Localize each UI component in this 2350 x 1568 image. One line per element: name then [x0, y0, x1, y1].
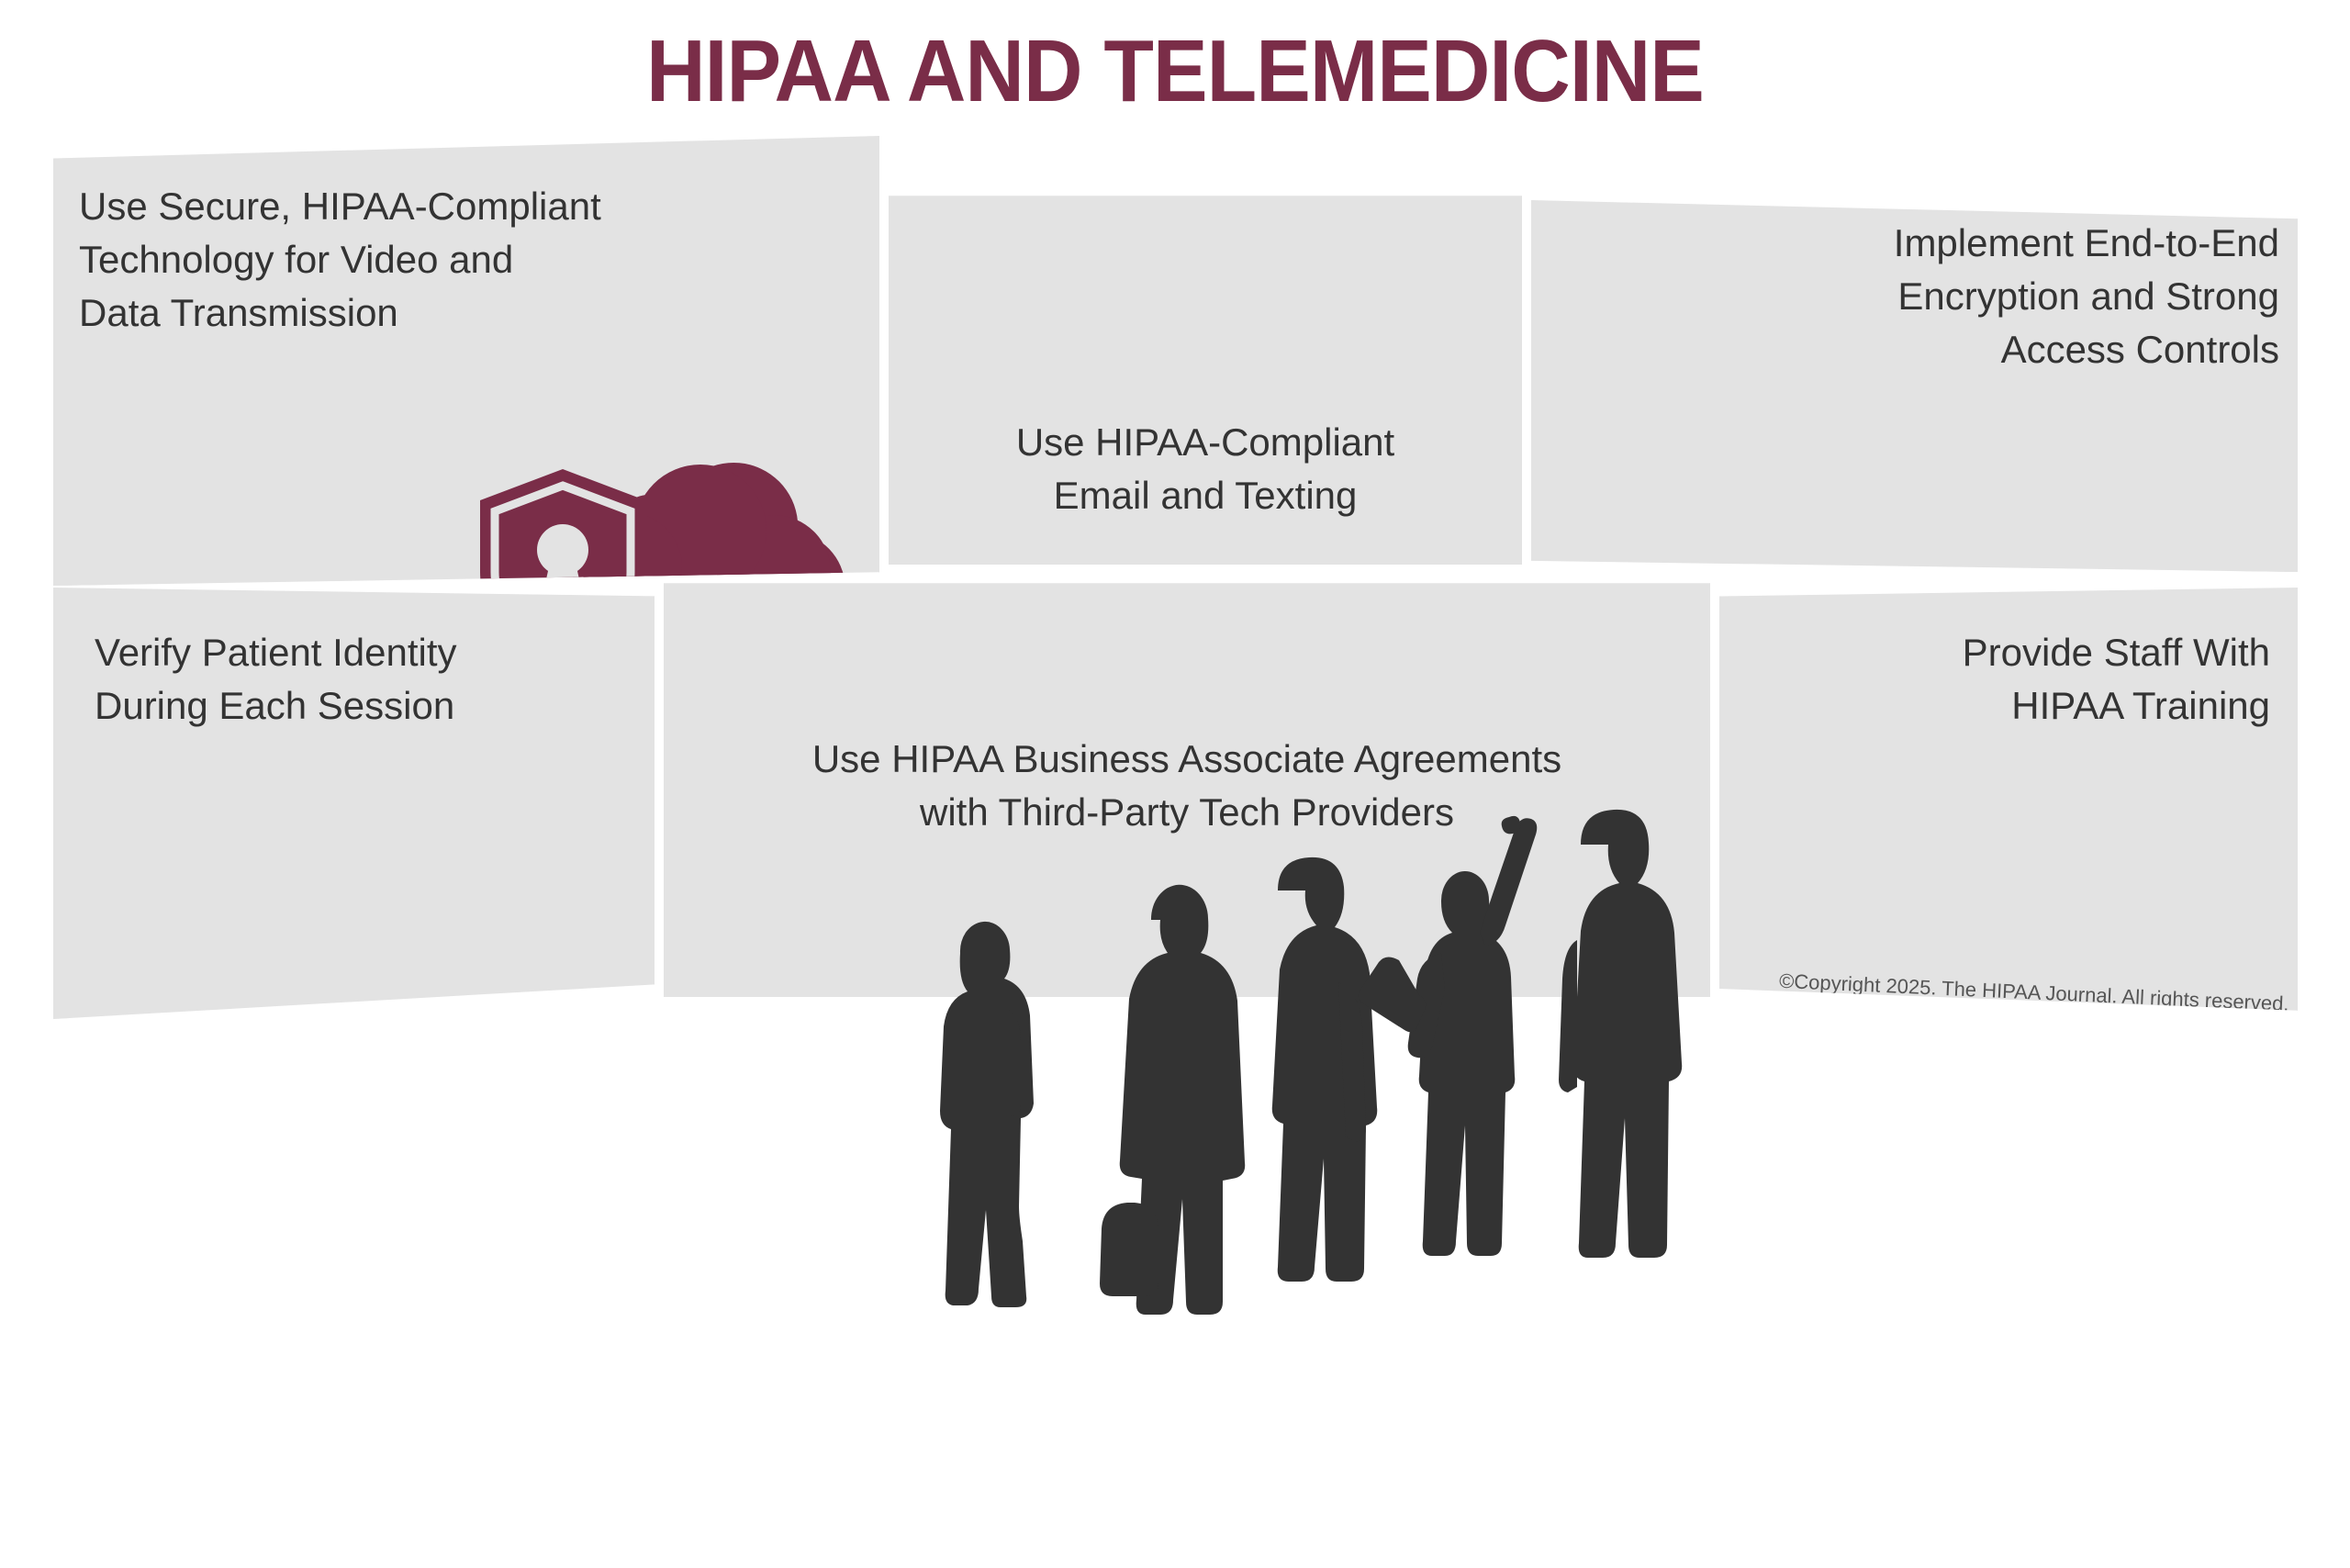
panel-encryption-access: Implement End-to-End Encryption and Stro…	[1531, 200, 2298, 572]
panel-6-inner: Provide Staff With HIPAA Training	[1719, 588, 2298, 1024]
logo-line-hipaa: HIPAA	[1407, 1474, 1517, 1513]
copyright-text: ©Copyright 2025. The HIPAA Journal. All …	[1779, 969, 2290, 1016]
panel-verify-identity: Verify Patient Identity During Each Sess…	[53, 588, 655, 1019]
patient-checkmark-clipboard-icon	[319, 1357, 677, 1568]
silhouette-figure-4	[1359, 816, 1538, 1256]
handshake-icon	[1699, 1151, 1975, 1303]
silhouette-figure-1	[940, 922, 1034, 1307]
silhouette-figure-2	[1100, 885, 1245, 1315]
panel-secure-technology: Use Secure, HIPAA-Compliant Technology f…	[53, 136, 879, 586]
panel-6-text: Provide Staff With HIPAA Training	[1747, 626, 2270, 733]
panel-1-inner: Use Secure, HIPAA-Compliant Technology f…	[53, 136, 879, 586]
silhouette-figure-3	[1272, 857, 1378, 1282]
panel-2-text: Use HIPAA-Compliant Email and Texting	[898, 416, 1513, 522]
logo-line-journal: JOURNAL	[1407, 1514, 1540, 1537]
panel-2-inner: Use HIPAA-Compliant Email and Texting	[889, 188, 1522, 565]
audience-silhouettes	[927, 790, 1689, 1317]
silhouette-figure-5	[1559, 810, 1682, 1258]
panel-staff-training: Provide Staff With HIPAA Training	[1719, 588, 2298, 1024]
panel-email-texting: Use HIPAA-Compliant Email and Texting	[889, 188, 1522, 565]
panel-3-inner: Implement End-to-End Encryption and Stro…	[1531, 200, 2298, 572]
panel-4-inner: Verify Patient Identity During Each Sess…	[53, 588, 655, 1019]
panel-4-text: Verify Patient Identity During Each Sess…	[95, 626, 645, 733]
panel-1-text: Use Secure, HIPAA-Compliant Technology f…	[79, 180, 850, 340]
panel-3-text: Implement End-to-End Encryption and Stro…	[1550, 217, 2279, 376]
hipaa-journal-logo: THE HIPAA JOURNAL	[1332, 1451, 1571, 1539]
logo-line-the: THE	[1407, 1458, 1449, 1475]
